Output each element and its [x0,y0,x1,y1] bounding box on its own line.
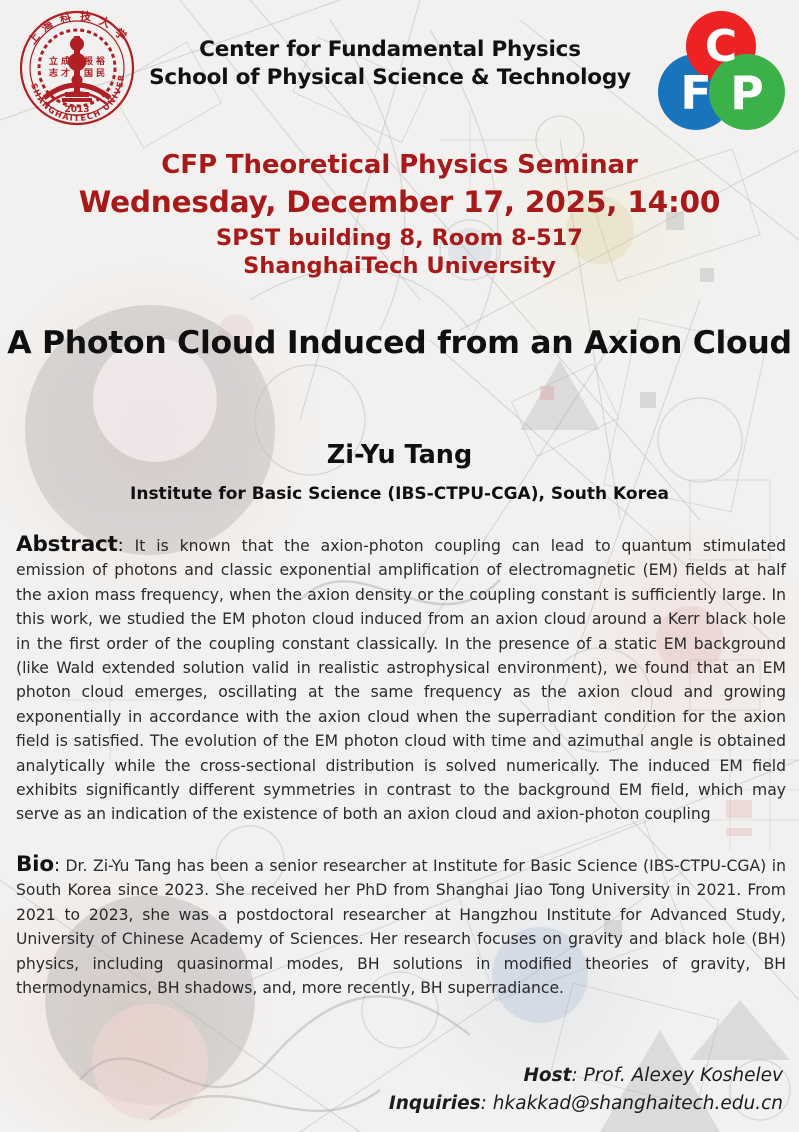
svg-text:才: 才 [61,67,70,79]
host-value: Prof. Alexey Koshelev [584,1065,783,1086]
host-label: Host [523,1065,571,1086]
inquiries-line: Inquiries: hkakkad@shanghaitech.edu.cn [389,1090,783,1118]
header-school-name: School of Physical Science & Technology [140,64,640,92]
header-title-group: Center for Fundamental Physics School of… [140,36,640,91]
bio-colon: : [54,855,60,876]
svg-text:志: 志 [49,67,58,79]
seminar-series-title: CFP Theoretical Physics Seminar [0,149,799,181]
seminar-venue: SPST building 8, Room 8-517 [0,224,799,253]
cfp-logo-icon: C F P [657,10,785,134]
poster-header: 立成 报裕 志才 国民 上 海 科 技 大 学 2013 SHANGHAITEC… [0,0,799,140]
event-details: CFP Theoretical Physics Seminar Wednesda… [0,149,799,281]
inquiries-label: Inquiries [389,1093,481,1114]
seminar-poster: 立成 报裕 志才 国民 上 海 科 技 大 学 2013 SHANGHAITEC… [0,0,799,1132]
svg-text:上: 上 [25,30,43,47]
speaker-affiliation: Institute for Basic Science (IBS-CTPU-CG… [0,484,799,504]
host-line: Host: Prof. Alexey Koshelev [389,1062,783,1090]
inquiries-separator: : [481,1093,493,1114]
bio-text: Dr. Zi-Yu Tang has been a senior researc… [16,857,786,997]
poster-footer: Host: Prof. Alexey Koshelev Inquiries: h… [389,1062,783,1118]
host-separator: : [572,1065,584,1086]
svg-text:C: C [705,21,737,72]
svg-text:报: 报 [84,55,93,67]
svg-text:裕: 裕 [95,55,105,67]
speaker-block: Zi-Yu Tang Institute for Basic Science (… [0,440,799,504]
talk-title: A Photon Cloud Induced from an Axion Clo… [0,325,799,361]
svg-text:F: F [680,66,711,120]
seminar-university: ShanghaiTech University [0,252,799,281]
svg-text:立: 立 [49,55,58,67]
svg-text:国: 国 [84,68,93,79]
seminar-datetime: Wednesday, December 17, 2025, 14:00 [0,183,799,221]
abstract-section: Abstract: It is known that the axion-pho… [16,533,786,827]
shanghaitech-seal-icon: 立成 报裕 志才 国民 上 海 科 技 大 学 2013 SHANGHAITEC… [18,6,136,130]
svg-text:技: 技 [80,9,92,23]
inquiries-email[interactable]: hkakkad@shanghaitech.edu.cn [493,1093,783,1114]
abstract-text: It is known that the axion-photon coupli… [16,537,786,823]
header-center-name: Center for Fundamental Physics [140,36,640,64]
svg-text:P: P [730,66,764,120]
bio-label: Bio [16,852,54,877]
abstract-label: Abstract [16,532,118,557]
bio-section: Bio: Dr. Zi-Yu Tang has been a senior re… [16,853,786,1000]
abstract-colon: : [118,535,124,556]
svg-text:海: 海 [39,17,56,35]
svg-text:民: 民 [96,68,105,79]
speaker-name: Zi-Yu Tang [0,440,799,470]
svg-text:成: 成 [61,55,70,67]
